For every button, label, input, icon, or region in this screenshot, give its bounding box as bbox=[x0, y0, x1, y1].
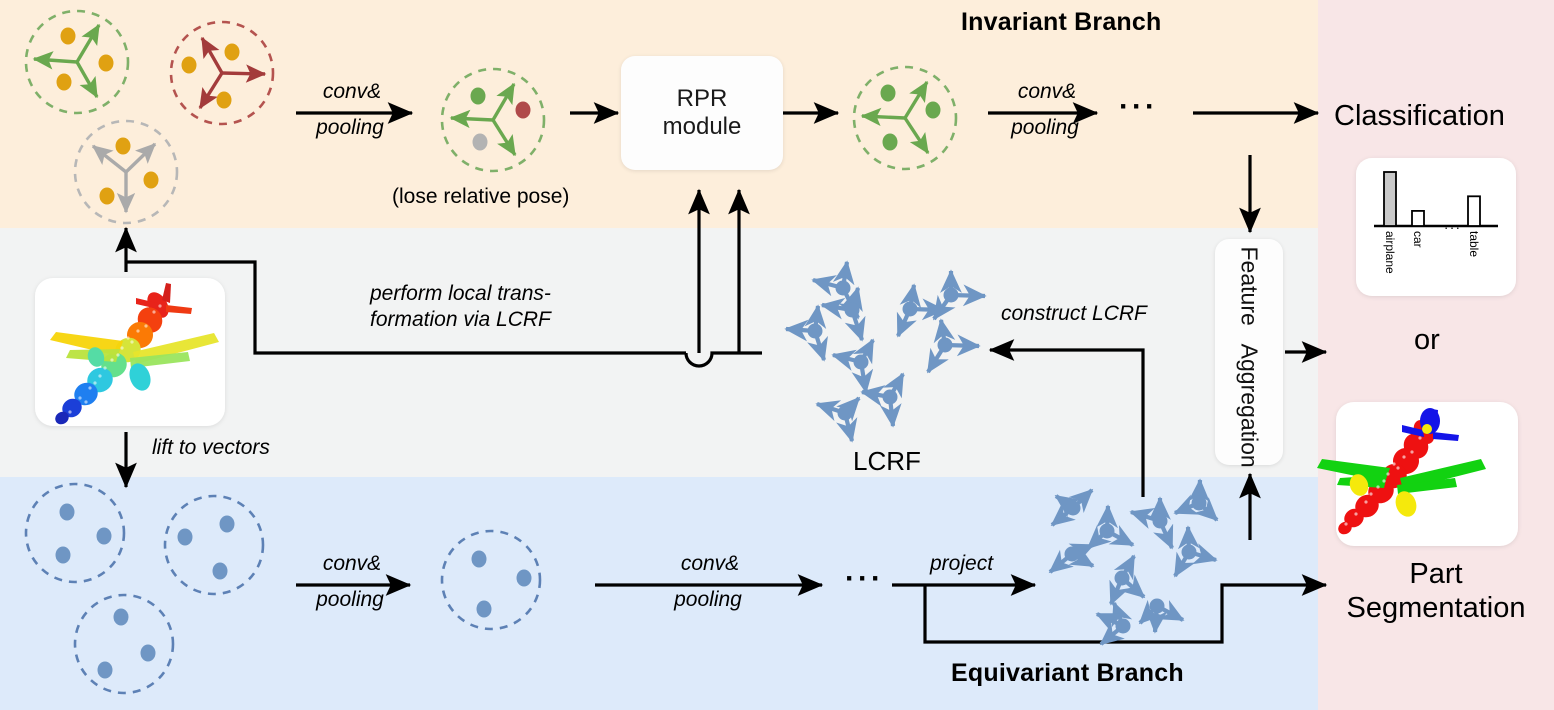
conv-pooling-label-inv-1b: pooling bbox=[290, 116, 410, 140]
conv-pooling-equ-bottom-1: pooling bbox=[290, 588, 410, 612]
part-segmentation-card bbox=[1317, 402, 1518, 546]
feature-aggregation-line1: Feature bbox=[1237, 247, 1263, 326]
pooled-group bbox=[442, 69, 544, 171]
chart-tick-airplane: airplane bbox=[1383, 231, 1397, 274]
perform-lcrf-label: perform local trans- formation via LCRF bbox=[370, 281, 551, 334]
perform-lcrf-line2: formation via LCRF bbox=[370, 307, 551, 333]
construct-lcrf-label: construct LCRF bbox=[1001, 302, 1147, 326]
rpr-output-group bbox=[854, 67, 956, 169]
rpr-module-line1: RPR bbox=[677, 85, 728, 112]
diagram-canvas: RPR module Feature Aggregation airplane … bbox=[0, 0, 1554, 710]
chart-tick-car: car bbox=[1411, 231, 1425, 248]
rpr-input-arrows bbox=[699, 190, 739, 353]
bar-car bbox=[1412, 211, 1424, 226]
lose-relative-pose-caption: (lose relative pose) bbox=[392, 185, 569, 209]
classification-bar-chart: airplane car ··· table bbox=[1356, 158, 1516, 296]
equivariant-branch-title: Equivariant Branch bbox=[951, 659, 1184, 688]
local-group-green bbox=[26, 11, 128, 113]
arrow-construct-lcrf bbox=[990, 350, 1143, 497]
chart-tick-table: table bbox=[1467, 231, 1481, 257]
feature-aggregation-label: Feature Aggregation bbox=[1236, 247, 1263, 463]
bar-airplane bbox=[1384, 172, 1396, 226]
invariant-branch-title: Invariant Branch bbox=[961, 8, 1161, 37]
local-group-gray bbox=[75, 121, 177, 223]
rpr-module-box[interactable]: RPR module bbox=[621, 56, 783, 170]
perform-lcrf-line1: perform local trans- bbox=[370, 281, 551, 307]
lift-to-vectors-label: lift to vectors bbox=[152, 436, 270, 460]
conv-pooling-top-2: conv& bbox=[992, 80, 1102, 104]
part-segmentation-label: Part Segmentation bbox=[1322, 557, 1550, 625]
conv-pooling-equ-bottom-2: pooling bbox=[648, 588, 768, 612]
path-equ-to-output bbox=[925, 585, 1326, 642]
part-segmentation-line1: Part bbox=[1322, 557, 1550, 591]
conv-pooling-top-1: conv& bbox=[297, 80, 407, 104]
conv-pooling-bottom-2: pooling bbox=[985, 116, 1105, 140]
conv-pooling-label-inv-2: conv& bbox=[992, 80, 1102, 104]
ellipsis-invariant: ··· bbox=[1119, 90, 1158, 124]
conv-pooling-label-equ-2: conv& bbox=[655, 552, 765, 576]
bar-table bbox=[1468, 196, 1480, 226]
rpr-module-line2: module bbox=[663, 113, 742, 140]
or-label: or bbox=[1414, 324, 1440, 357]
lcrf-label: LCRF bbox=[853, 446, 921, 477]
conv-pooling-label-inv-1: conv& bbox=[297, 80, 407, 104]
equ-vector-field bbox=[1050, 480, 1217, 644]
part-segmentation-line2: Segmentation bbox=[1322, 591, 1550, 625]
conv-pooling-label-equ-2b: pooling bbox=[648, 588, 768, 612]
feature-aggregation-line2: Aggregation bbox=[1237, 344, 1263, 468]
local-group-red bbox=[171, 22, 273, 124]
equ-local-group-3 bbox=[75, 595, 173, 693]
conv-pooling-bottom-1: pooling bbox=[290, 116, 410, 140]
conv-pooling-equ-top-1: conv& bbox=[297, 552, 407, 576]
bar-chart-svg: airplane car ··· table bbox=[1356, 158, 1516, 296]
conv-pooling-label-equ-1: conv& bbox=[297, 552, 407, 576]
chart-tick-ellipsis: ··· bbox=[1444, 220, 1462, 235]
conv-pooling-equ-top-2: conv& bbox=[655, 552, 765, 576]
project-label: project bbox=[930, 552, 993, 576]
equ-local-group-2 bbox=[165, 496, 263, 594]
conv-pooling-label-inv-2b: pooling bbox=[985, 116, 1105, 140]
equ-pooled-group bbox=[442, 531, 540, 629]
wire-hop bbox=[686, 353, 762, 366]
equ-local-group-1 bbox=[26, 484, 124, 582]
conv-pooling-label-equ-1b: pooling bbox=[290, 588, 410, 612]
ellipsis-equivariant: ··· bbox=[845, 562, 884, 596]
lcrf-vector-field bbox=[786, 262, 985, 441]
classification-label: Classification bbox=[1334, 100, 1505, 133]
input-point-cloud-card bbox=[35, 278, 225, 427]
